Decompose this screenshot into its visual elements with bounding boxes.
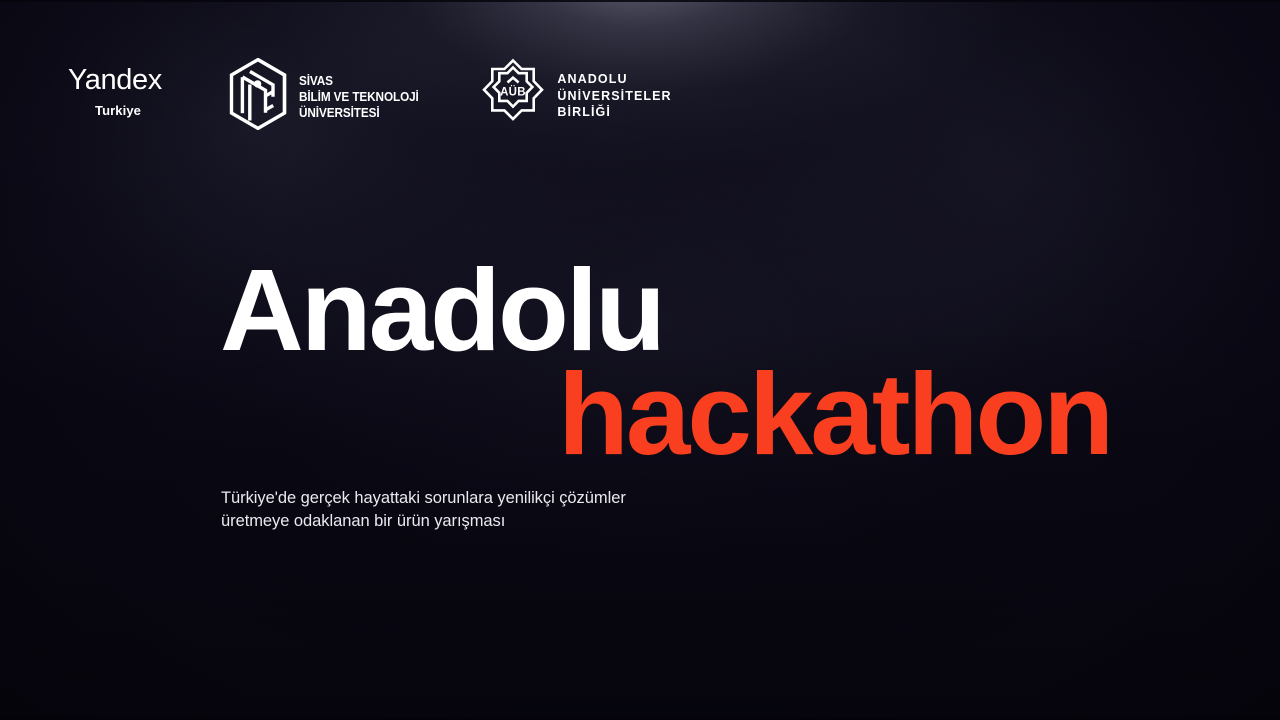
logo-sivas-university[interactable]: SİVAS BİLİM VE TEKNOLOJİ ÜNİVERSİTESİ — [228, 56, 426, 135]
svg-text:AÜB: AÜB — [500, 86, 526, 99]
top-edge-line — [0, 0, 1280, 2]
hero-headline: Anadolu hackathon — [220, 258, 1111, 472]
sivas-line-2: BİLİM VE TEKNOLOJİ — [299, 90, 419, 104]
aub-line-3: BİRLİĞİ — [557, 105, 671, 119]
logo-yandex[interactable]: Yandex Turkiye — [68, 56, 228, 117]
hero-subtitle: Türkiye'de gerçek hayattaki sorunlara ye… — [221, 487, 626, 532]
hero-title-accent-row: hackathon — [220, 358, 1111, 472]
aub-line-2: ÜNİVERSİTELER — [557, 89, 671, 103]
yandex-region-label: Turkiye — [95, 104, 141, 117]
hero-subtitle-line-1: Türkiye'de gerçek hayattaki sorunlara ye… — [221, 487, 626, 510]
sivas-line-3: ÜNİVERSİTESİ — [299, 106, 419, 120]
sivas-line-1: SİVAS — [299, 74, 419, 88]
sivas-university-name: SİVAS BİLİM VE TEKNOLOJİ ÜNİVERSİTESİ — [299, 74, 419, 120]
aub-seljuk-star-logo-icon: AÜB — [482, 58, 544, 133]
aub-organization-name: ANADOLU ÜNİVERSİTELER BİRLİĞİ — [557, 72, 671, 119]
hero-subtitle-line-2: üretmeye odaklanan bir ürün yarışması — [221, 510, 626, 533]
hero-title-accent: hackathon — [558, 358, 1111, 472]
sivas-hexagon-logo-icon — [228, 58, 288, 135]
hero-banner: Yandex Turkiye SİVAS BİL — [0, 0, 1280, 720]
partner-logo-bar: Yandex Turkiye SİVAS BİL — [68, 56, 672, 135]
yandex-wordmark: Yandex — [68, 66, 162, 95]
hero-title-main: Anadolu — [220, 258, 1111, 362]
aub-line-1: ANADOLU — [557, 72, 671, 86]
logo-anadolu-universiteler-birligi[interactable]: AÜB ANADOLU ÜNİVERSİTELER BİRLİĞİ — [482, 56, 671, 133]
